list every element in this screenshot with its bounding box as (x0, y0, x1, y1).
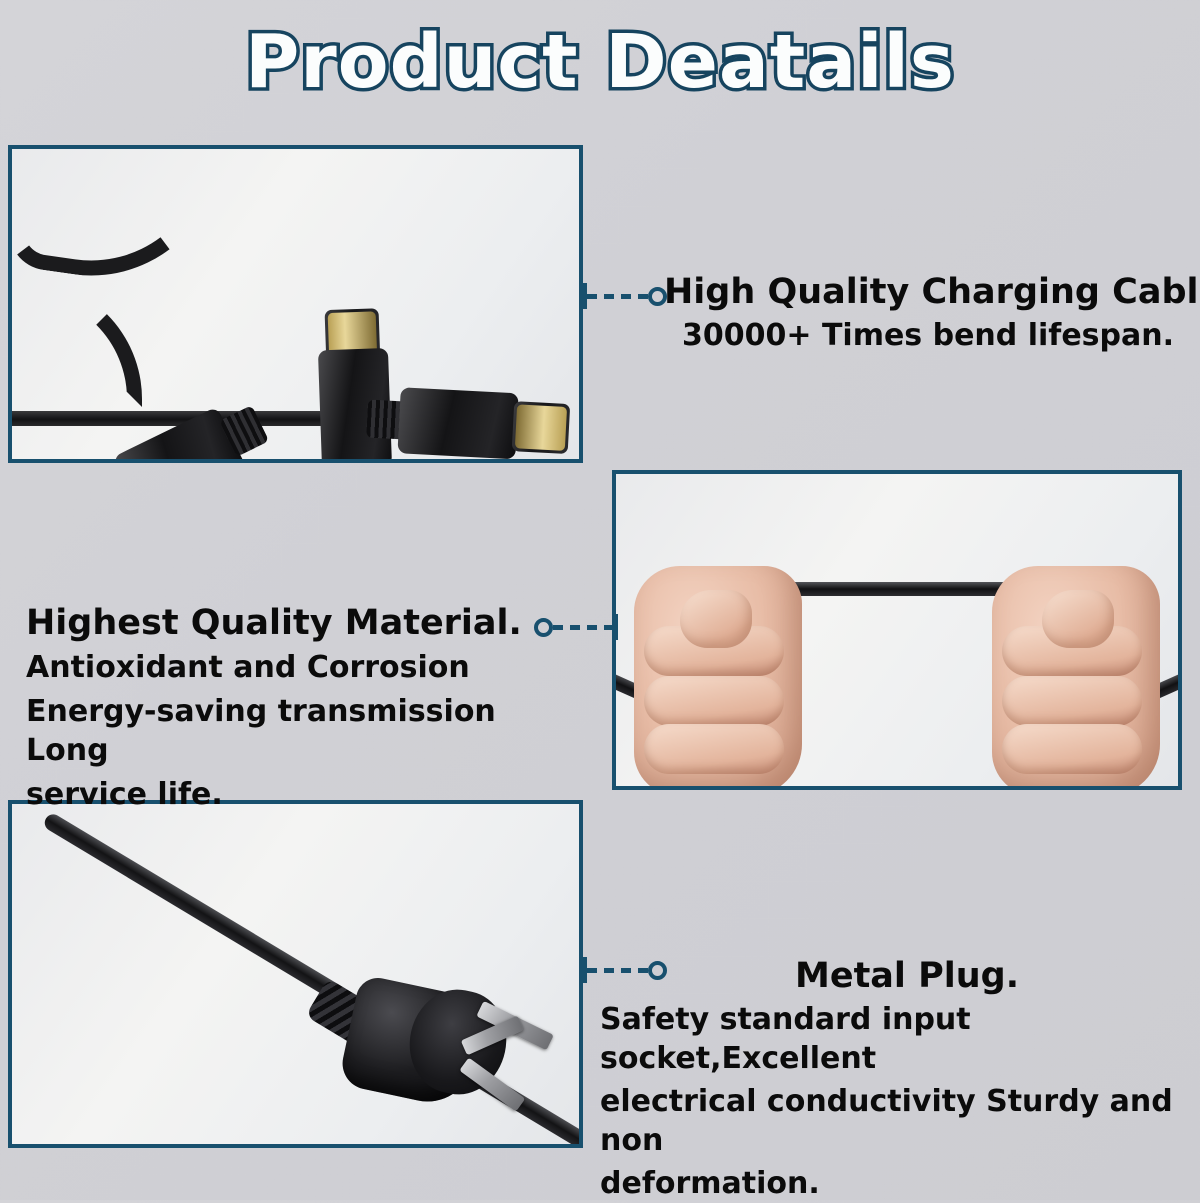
knuckle (644, 676, 784, 726)
callout-charging-cable: High Quality Charging Cable 30000+ Times… (664, 272, 1200, 355)
usb-c-charging-cable-photo (8, 145, 583, 463)
leader-stub (614, 614, 618, 640)
callout-body-line: electrical conductivity Sturdy and non (600, 1082, 1200, 1160)
thumb (1042, 590, 1114, 648)
infographic-stage: Product Deatails (0, 0, 1200, 1200)
callout-metal-plug: Metal Plug. Safety standard input socket… (600, 956, 1200, 1203)
knuckle (1002, 676, 1142, 726)
callout-heading: Highest Quality Material. (26, 603, 546, 643)
callout-body-line: service life. (26, 775, 546, 814)
cable-wire-branch-left (8, 145, 220, 292)
usb-c-shell (397, 387, 518, 459)
callout-body-line: Energy-saving transmission Long (26, 692, 546, 770)
leader-dashes (553, 625, 614, 630)
callout-heading: Metal Plug. (795, 956, 1200, 996)
usb-c-strain-relief (336, 460, 377, 463)
mains-plug-photo (8, 800, 583, 1148)
usb-c-tip (76, 460, 147, 463)
page-title: Product Deatails (0, 22, 1200, 102)
callout-body-line: 30000+ Times bend lifespan. (664, 316, 1200, 355)
usb-c-tip (512, 401, 571, 454)
leader-dashes (587, 294, 648, 299)
leader-line-charging-cable (583, 283, 667, 309)
thumb (680, 590, 752, 648)
usb-c-connector-right (365, 380, 579, 463)
hand-left (634, 566, 802, 790)
callout-material: Highest Quality Material. Antioxidant an… (26, 603, 546, 814)
cable-bend-test-photo (612, 470, 1182, 790)
hand-right (992, 566, 1160, 790)
knuckle (644, 724, 784, 774)
leader-line-material (534, 614, 618, 640)
cable-wire-branch-center (12, 279, 142, 407)
callout-body-line: Safety standard input socket,Excellent (600, 1000, 1200, 1078)
callout-body-line: Antioxidant and Corrosion (26, 648, 546, 687)
callout-body-line: deformation. (600, 1164, 1200, 1203)
callout-heading: High Quality Charging Cable (664, 272, 1200, 312)
knuckle (1002, 724, 1142, 774)
